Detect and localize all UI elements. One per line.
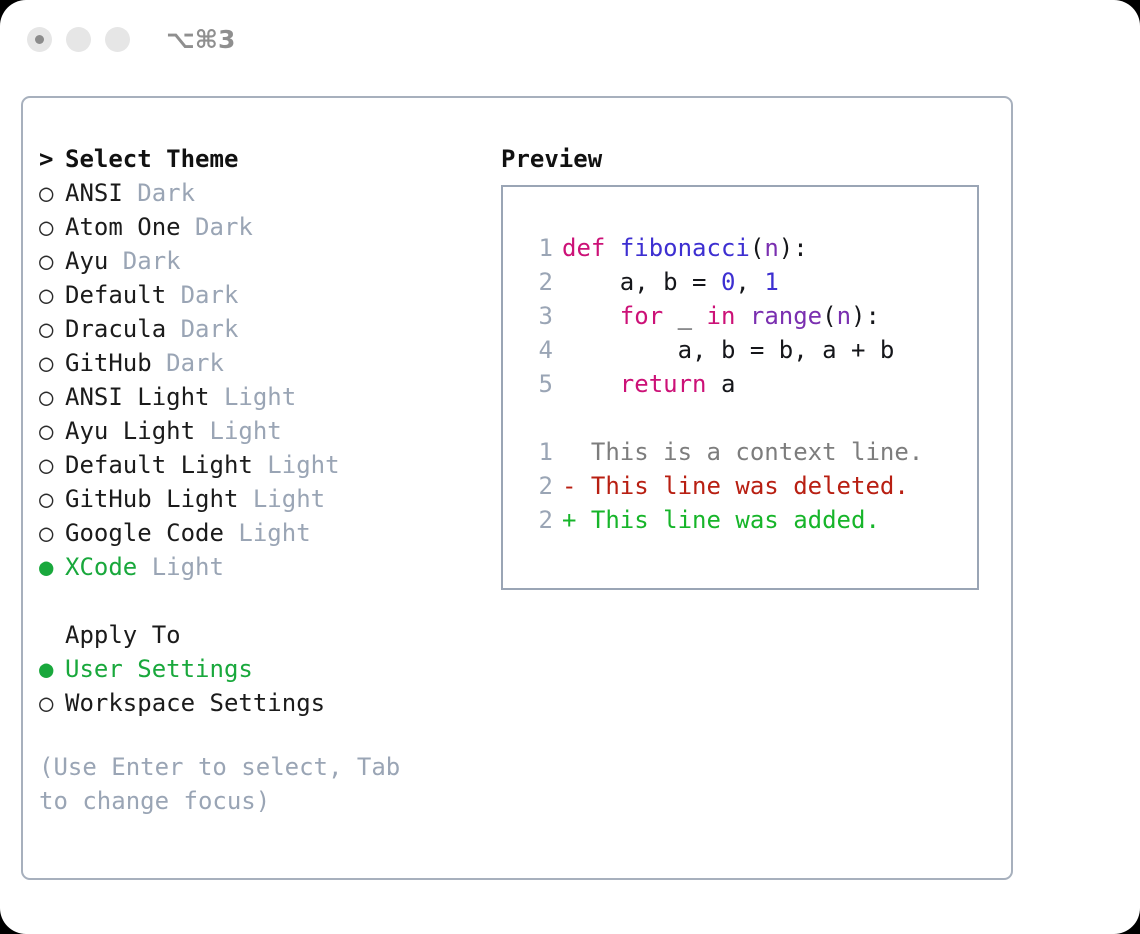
- keyboard-hint-text: (Use Enter to select, Tab to change focu…: [39, 750, 439, 818]
- maximize-dot-icon[interactable]: [105, 27, 130, 52]
- close-dot-inner: [35, 35, 44, 44]
- diff-text: This is a context line.: [576, 438, 923, 466]
- window-titlebar: ⌥⌘3: [0, 0, 1140, 78]
- radio-unselected-icon: ○: [39, 210, 65, 244]
- apply-to-label: Workspace Settings: [65, 689, 325, 717]
- code-token: ):: [851, 302, 880, 330]
- theme-variant-label: Light: [224, 519, 311, 547]
- theme-name-label: ANSI Light: [65, 383, 210, 411]
- apply-to-list: ●User Settings○Workspace Settings: [39, 652, 469, 720]
- heading-prefix-icon: >: [39, 142, 65, 176]
- diff-line-number: 1: [523, 435, 553, 469]
- code-token: range: [750, 302, 822, 330]
- code-diff-separator: [523, 401, 923, 435]
- code-token: return: [620, 370, 707, 398]
- select-theme-heading-label: Select Theme: [65, 145, 238, 173]
- theme-variant-label: Light: [238, 485, 325, 513]
- code-token: ,: [735, 268, 764, 296]
- theme-list-item[interactable]: ○GitHub Light Light: [39, 482, 469, 516]
- code-token: (: [822, 302, 836, 330]
- apply-to-item[interactable]: ●User Settings: [39, 652, 469, 686]
- code-line-number: 5: [523, 367, 553, 401]
- diff-marker: +: [562, 506, 576, 534]
- theme-variant-label: Dark: [166, 281, 238, 309]
- code-line-number: 3: [523, 299, 553, 333]
- diff-marker: -: [562, 472, 576, 500]
- apply-to-heading: Apply To: [39, 618, 469, 652]
- theme-variant-label: Light: [137, 553, 224, 581]
- code-line: 3 for _ in range(n):: [523, 299, 923, 333]
- radio-unselected-icon: ○: [39, 244, 65, 278]
- theme-list-item[interactable]: ○ANSI Light Light: [39, 380, 469, 414]
- diff-marker: [562, 438, 576, 466]
- theme-variant-label: Dark: [152, 349, 224, 377]
- code-line-number: 2: [523, 265, 553, 299]
- code-token: in: [707, 302, 736, 330]
- app-window: ⌥⌘3 >Select Theme ○ANSI Dark○Atom One Da…: [0, 0, 1140, 934]
- radio-unselected-icon: ○: [39, 278, 65, 312]
- preview-column: Preview 1def fibonacci(n):2 a, b = 0, 13…: [501, 142, 981, 590]
- code-line: 1def fibonacci(n):: [523, 231, 923, 265]
- theme-variant-label: Dark: [166, 315, 238, 343]
- diff-line-number: 2: [523, 469, 553, 503]
- code-token: a: [707, 370, 736, 398]
- theme-name-label: GitHub: [65, 349, 152, 377]
- theme-variant-label: Light: [210, 383, 297, 411]
- theme-variant-label: Dark: [108, 247, 180, 275]
- code-token: _: [663, 302, 706, 330]
- theme-list-item[interactable]: ○Ayu Dark: [39, 244, 469, 278]
- radio-unselected-icon: ○: [39, 312, 65, 346]
- code-token: for: [620, 302, 663, 330]
- theme-name-label: Ayu Light: [65, 417, 195, 445]
- code-line: 2 a, b = 0, 1: [523, 265, 923, 299]
- code-token: n: [837, 302, 851, 330]
- theme-list-item[interactable]: ○Atom One Dark: [39, 210, 469, 244]
- code-token: ):: [779, 234, 808, 262]
- theme-list-item[interactable]: ○Default Dark: [39, 278, 469, 312]
- diff-text: This line was added.: [576, 506, 879, 534]
- theme-name-label: GitHub Light: [65, 485, 238, 513]
- code-line: 5 return a: [523, 367, 923, 401]
- theme-name-label: Default: [65, 281, 166, 309]
- code-token: a, b = b, a + b: [562, 336, 894, 364]
- code-token: [605, 234, 619, 262]
- close-dot-icon[interactable]: [27, 27, 52, 52]
- theme-list-item[interactable]: ●XCode Light: [39, 550, 469, 584]
- diff-line: 1 This is a context line.: [523, 435, 923, 469]
- theme-list-item[interactable]: ○Default Light Light: [39, 448, 469, 482]
- radio-unselected-icon: ○: [39, 686, 65, 720]
- theme-list-item[interactable]: ○Dracula Dark: [39, 312, 469, 346]
- code-token: [735, 302, 749, 330]
- preview-heading: Preview: [501, 142, 981, 176]
- radio-unselected-icon: ○: [39, 346, 65, 380]
- code-preview: 1def fibonacci(n):2 a, b = 0, 13 for _ i…: [523, 231, 923, 537]
- diff-line: 2- This line was deleted.: [523, 469, 923, 503]
- code-token: n: [764, 234, 778, 262]
- radio-unselected-icon: ○: [39, 448, 65, 482]
- code-token: [562, 370, 620, 398]
- traffic-light-group: [27, 27, 130, 52]
- theme-name-label: Dracula: [65, 315, 166, 343]
- select-theme-heading: >Select Theme: [39, 142, 469, 176]
- code-line-number: 4: [523, 333, 553, 367]
- radio-unselected-icon: ○: [39, 516, 65, 550]
- main-panel: >Select Theme ○ANSI Dark○Atom One Dark○A…: [21, 96, 1013, 880]
- theme-name-label: Ayu: [65, 247, 108, 275]
- keyboard-shortcut-label: ⌥⌘3: [166, 25, 235, 54]
- theme-variant-label: Dark: [181, 213, 253, 241]
- code-line: 4 a, b = b, a + b: [523, 333, 923, 367]
- theme-list-item[interactable]: ○Ayu Light Light: [39, 414, 469, 448]
- theme-name-label: Google Code: [65, 519, 224, 547]
- theme-variant-label: Light: [253, 451, 340, 479]
- theme-variant-label: Dark: [123, 179, 195, 207]
- radio-selected-icon: ●: [39, 550, 65, 584]
- code-token: 1: [764, 268, 778, 296]
- theme-selection-column: >Select Theme ○ANSI Dark○Atom One Dark○A…: [39, 142, 469, 818]
- preview-box: 1def fibonacci(n):2 a, b = 0, 13 for _ i…: [501, 185, 979, 590]
- code-token: 0: [721, 268, 735, 296]
- minimize-dot-icon[interactable]: [66, 27, 91, 52]
- list-spacer: [39, 584, 469, 618]
- code-token: (: [750, 234, 764, 262]
- theme-variant-label: Light: [195, 417, 282, 445]
- radio-unselected-icon: ○: [39, 176, 65, 210]
- theme-list-item[interactable]: ○Google Code Light: [39, 516, 469, 550]
- theme-list-item[interactable]: ○ANSI Dark: [39, 176, 469, 210]
- apply-to-item[interactable]: ○Workspace Settings: [39, 686, 469, 720]
- diff-line: 2+ This line was added.: [523, 503, 923, 537]
- apply-to-label: User Settings: [65, 655, 253, 683]
- theme-name-label: Default Light: [65, 451, 253, 479]
- code-token: a, b =: [562, 268, 721, 296]
- diff-line-number: 2: [523, 503, 553, 537]
- radio-unselected-icon: ○: [39, 414, 65, 448]
- radio-selected-icon: ●: [39, 652, 65, 686]
- code-token: [562, 302, 620, 330]
- theme-list: ○ANSI Dark○Atom One Dark○Ayu Dark○Defaul…: [39, 176, 469, 584]
- theme-name-label: Atom One: [65, 213, 181, 241]
- code-token: fibonacci: [620, 234, 750, 262]
- theme-name-label: ANSI: [65, 179, 123, 207]
- theme-name-label: XCode: [65, 553, 137, 581]
- radio-unselected-icon: ○: [39, 380, 65, 414]
- code-token: def: [562, 234, 605, 262]
- code-line-number: 1: [523, 231, 553, 265]
- radio-unselected-icon: ○: [39, 482, 65, 516]
- theme-list-item[interactable]: ○GitHub Dark: [39, 346, 469, 380]
- diff-text: This line was deleted.: [576, 472, 908, 500]
